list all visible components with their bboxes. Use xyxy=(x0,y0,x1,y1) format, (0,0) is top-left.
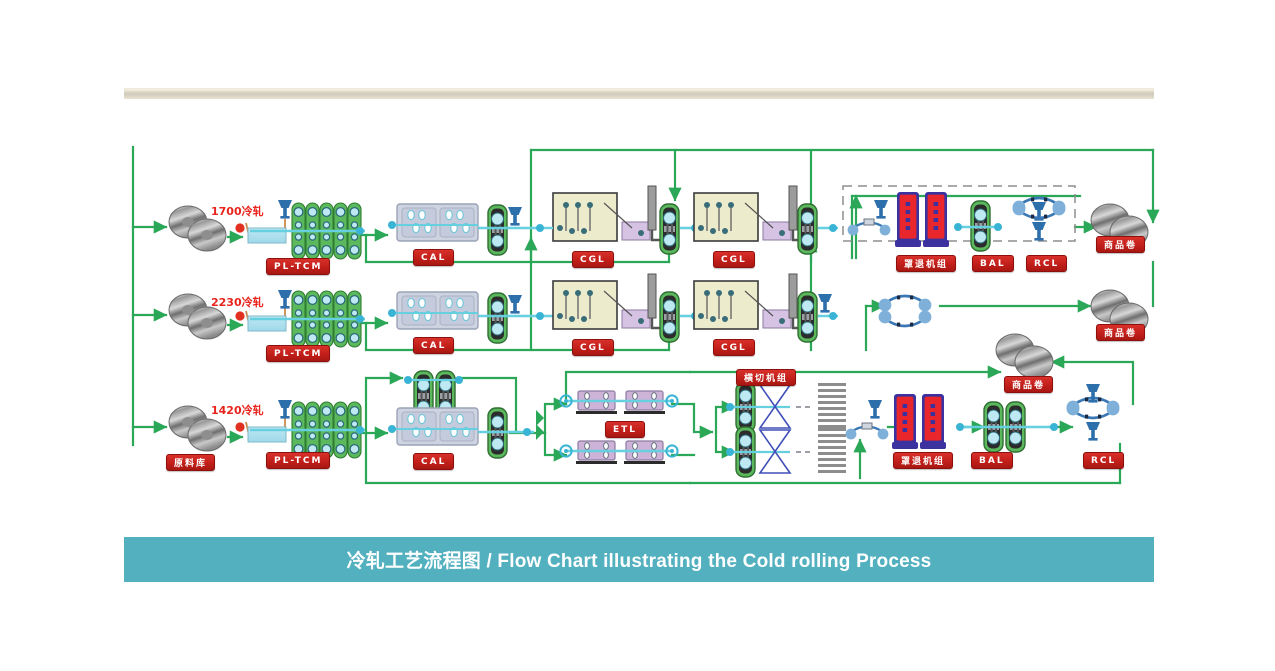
mill-tag-1420: 1420冷轧 xyxy=(211,402,264,418)
plaque-product-coil-2: 商品卷 xyxy=(1096,324,1145,341)
plaque-cal-2: CAL xyxy=(413,337,454,354)
mill-tag-1700: 1700冷轧 xyxy=(211,203,264,219)
uncoiler-1 xyxy=(848,219,891,235)
cal-unit-2 xyxy=(388,292,478,329)
plaque-cal-3: CAL xyxy=(413,453,454,470)
slide-caption-text: 冷轧工艺流程图 / Flow Chart illustrating the Co… xyxy=(347,546,932,573)
plaque-cross-cut: 横切机组 xyxy=(736,369,796,386)
plaque-bal-1: BAL xyxy=(972,255,1014,272)
rcl-coiler-3 xyxy=(1067,384,1120,441)
cgl-unit-2a xyxy=(553,274,679,342)
plaque-pl-tcm-3: PL-TCM xyxy=(266,452,330,469)
plaque-cgl-2a: CGL xyxy=(572,339,614,356)
mill-tag-2230: 2230冷轧 xyxy=(211,294,264,310)
cross-cut-line-lower xyxy=(726,427,846,477)
rcl-coiler-1 xyxy=(1013,197,1066,240)
etl-line-upper xyxy=(560,391,677,414)
cross-cut-line-upper xyxy=(726,382,846,432)
slide-caption-bar: 冷轧工艺流程图 / Flow Chart illustrating the Co… xyxy=(124,537,1154,582)
uncoiler-3 xyxy=(846,423,889,439)
cal-unit-1 xyxy=(388,204,478,241)
cgl-unit-1b xyxy=(694,186,817,254)
plaque-bal-3: BAL xyxy=(971,452,1013,469)
product-coil-3 xyxy=(996,334,1053,378)
cal-unit-3 xyxy=(388,408,478,445)
plaque-rcl-1: RCL xyxy=(1026,255,1067,272)
plaque-product-coil-1: 商品卷 xyxy=(1096,236,1145,253)
plaque-cal-1: CAL xyxy=(413,249,454,266)
plaque-product-coil-3: 商品卷 xyxy=(1004,376,1053,393)
slide-canvas: PL-TCMCALCGLCGL罩退机组BALRCL商品卷PL-TCMCALCGL… xyxy=(0,0,1275,671)
plaque-pl-tcm-1: PL-TCM xyxy=(266,258,330,275)
plaque-pl-tcm-2: PL-TCM xyxy=(266,345,330,362)
plaque-cgl-1b: CGL xyxy=(713,251,755,268)
plaque-cgl-2b: CGL xyxy=(713,339,755,356)
plaque-etl: ETL xyxy=(605,421,645,438)
plaque-bell-anneal-1: 罩退机组 xyxy=(896,255,956,272)
row-2230 xyxy=(169,274,1148,347)
plaque-bell-anneal-3: 罩退机组 xyxy=(893,452,953,469)
plaque-cgl-1a: CGL xyxy=(572,251,614,268)
recoiler-2 xyxy=(879,295,932,326)
plaque-rcl-3: RCL xyxy=(1083,452,1124,469)
plaque-raw-store: 原料库 xyxy=(166,454,215,471)
cgl-unit-1a xyxy=(553,186,679,254)
etl-line-lower xyxy=(560,441,677,464)
